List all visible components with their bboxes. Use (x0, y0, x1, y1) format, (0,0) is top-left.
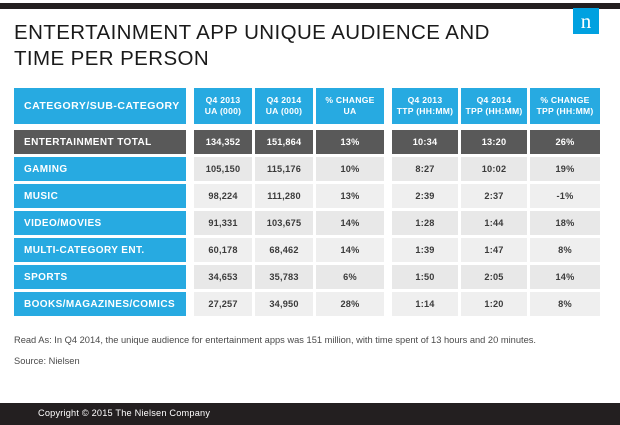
column-header-tpp-2014-line2: TPP (HH:MM) (465, 106, 522, 116)
column-header-ua-2014: Q4 2014 UA (000) (255, 88, 313, 124)
column-header-ua-2013-line2: UA (000) (205, 106, 242, 116)
cell-ua-change: 10% (316, 157, 384, 181)
column-header-category: CATEGORY/SUB-CATEGORY (14, 88, 186, 124)
column-header-tpp-change-line1: % CHANGE (540, 95, 589, 105)
column-gap (186, 265, 194, 289)
cell-tpp-2014: 1:44 (461, 211, 527, 235)
cell-ua-change: 13% (316, 130, 384, 154)
cell-tpp-2014: 1:20 (461, 292, 527, 316)
cell-tpp-change: 26% (530, 130, 600, 154)
column-group-gap (384, 88, 392, 124)
source-note: Source: Nielsen (14, 351, 609, 372)
cell-category: MUSIC (14, 184, 186, 208)
cell-ua-change: 28% (316, 292, 384, 316)
cell-category: ENTERTAINMENT TOTAL (14, 130, 186, 154)
column-gap (186, 211, 194, 235)
cell-ua-change: 13% (316, 184, 384, 208)
copyright-text: Copyright © 2015 The Nielsen Company (38, 408, 210, 418)
column-header-tpp-2014: Q4 2014 TPP (HH:MM) (461, 88, 527, 124)
cell-ua-2014: 115,176 (255, 157, 313, 181)
cell-ua-2014: 35,783 (255, 265, 313, 289)
cell-tpp-change: 18% (530, 211, 600, 235)
column-group-gap (384, 292, 392, 316)
table-row: VIDEO/MOVIES91,331103,67514%1:281:4418% (14, 211, 589, 235)
cell-ttp-2013: 1:14 (392, 292, 458, 316)
cell-tpp-2014: 2:37 (461, 184, 527, 208)
cell-tpp-change: -1% (530, 184, 600, 208)
cell-ttp-2013: 1:39 (392, 238, 458, 262)
cell-ua-change: 6% (316, 265, 384, 289)
column-header-ttp-2013-line2: TTP (HH:MM) (397, 106, 454, 116)
cell-category: GAMING (14, 157, 186, 181)
cell-category: SPORTS (14, 265, 186, 289)
read-as-note: Read As: In Q4 2014, the unique audience… (14, 330, 609, 351)
cell-ua-change: 14% (316, 238, 384, 262)
column-header-ua-2013: Q4 2013 UA (000) (194, 88, 252, 124)
column-group-gap (384, 238, 392, 262)
cell-ttp-2013: 1:50 (392, 265, 458, 289)
table-row: SPORTS34,65335,7836%1:502:0514% (14, 265, 589, 289)
cell-tpp-change: 19% (530, 157, 600, 181)
column-header-ttp-2013-line1: Q4 2013 (408, 95, 443, 105)
column-group-gap (384, 157, 392, 181)
column-gap (186, 292, 194, 316)
cell-tpp-change: 14% (530, 265, 600, 289)
top-rule (0, 3, 620, 9)
cell-ua-2014: 151,864 (255, 130, 313, 154)
column-header-tpp-change: % CHANGE TPP (HH:MM) (530, 88, 600, 124)
cell-ua-change: 14% (316, 211, 384, 235)
cell-ua-2013: 98,224 (194, 184, 252, 208)
cell-ttp-2013: 1:28 (392, 211, 458, 235)
column-gap (186, 184, 194, 208)
cell-ua-2014: 68,462 (255, 238, 313, 262)
column-gap (186, 157, 194, 181)
cell-category: MULTI-CATEGORY ENT. (14, 238, 186, 262)
column-header-ua-change: % CHANGE UA (316, 88, 384, 124)
cell-ttp-2013: 2:39 (392, 184, 458, 208)
cell-ua-2014: 103,675 (255, 211, 313, 235)
data-table: CATEGORY/SUB-CATEGORY Q4 2013 UA (000) Q… (14, 88, 589, 319)
column-gap (186, 88, 194, 124)
column-header-ua-2014-line1: Q4 2014 (267, 95, 302, 105)
nielsen-logo: n (573, 8, 599, 34)
cell-tpp-change: 8% (530, 292, 600, 316)
cell-category: VIDEO/MOVIES (14, 211, 186, 235)
page-title: ENTERTAINMENT APP UNIQUE AUDIENCE AND TI… (14, 20, 534, 72)
table-row: BOOKS/MAGAZINES/COMICS27,25734,95028%1:1… (14, 292, 589, 316)
table-body: GAMING105,150115,17610%8:2710:0219%MUSIC… (14, 157, 589, 316)
notes-block: Read As: In Q4 2014, the unique audience… (14, 330, 609, 372)
cell-tpp-2014: 1:47 (461, 238, 527, 262)
column-group-gap (384, 184, 392, 208)
column-gap (186, 130, 194, 154)
cell-tpp-change: 8% (530, 238, 600, 262)
column-header-ua-2014-line2: UA (000) (266, 106, 303, 116)
cell-tpp-2014: 10:02 (461, 157, 527, 181)
column-header-ua-change-line2: UA (344, 106, 357, 116)
cell-ttp-2013: 8:27 (392, 157, 458, 181)
table-header-row: CATEGORY/SUB-CATEGORY Q4 2013 UA (000) Q… (14, 88, 589, 124)
table-row: MUSIC98,224111,28013%2:392:37-1% (14, 184, 589, 208)
cell-category: BOOKS/MAGAZINES/COMICS (14, 292, 186, 316)
column-group-gap (384, 211, 392, 235)
cell-ua-2013: 105,150 (194, 157, 252, 181)
cell-tpp-2014: 2:05 (461, 265, 527, 289)
column-gap (186, 238, 194, 262)
column-header-ua-2013-line1: Q4 2013 (206, 95, 241, 105)
cell-ttp-2013: 10:34 (392, 130, 458, 154)
column-header-tpp-2014-line1: Q4 2014 (477, 95, 512, 105)
cell-ua-2013: 27,257 (194, 292, 252, 316)
table-row-total: ENTERTAINMENT TOTAL 134,352 151,864 13% … (14, 130, 589, 154)
table-row: GAMING105,150115,17610%8:2710:0219% (14, 157, 589, 181)
column-header-tpp-change-line2: TPP (HH:MM) (536, 106, 593, 116)
column-group-gap (384, 130, 392, 154)
cell-ua-2013: 60,178 (194, 238, 252, 262)
cell-tpp-2014: 13:20 (461, 130, 527, 154)
cell-ua-2014: 111,280 (255, 184, 313, 208)
column-header-ua-change-line1: % CHANGE (325, 95, 374, 105)
column-group-gap (384, 265, 392, 289)
column-header-ttp-2013: Q4 2013 TTP (HH:MM) (392, 88, 458, 124)
cell-ua-2013: 134,352 (194, 130, 252, 154)
cell-ua-2014: 34,950 (255, 292, 313, 316)
cell-ua-2013: 91,331 (194, 211, 252, 235)
cell-ua-2013: 34,653 (194, 265, 252, 289)
table-row: MULTI-CATEGORY ENT.60,17868,46214%1:391:… (14, 238, 589, 262)
